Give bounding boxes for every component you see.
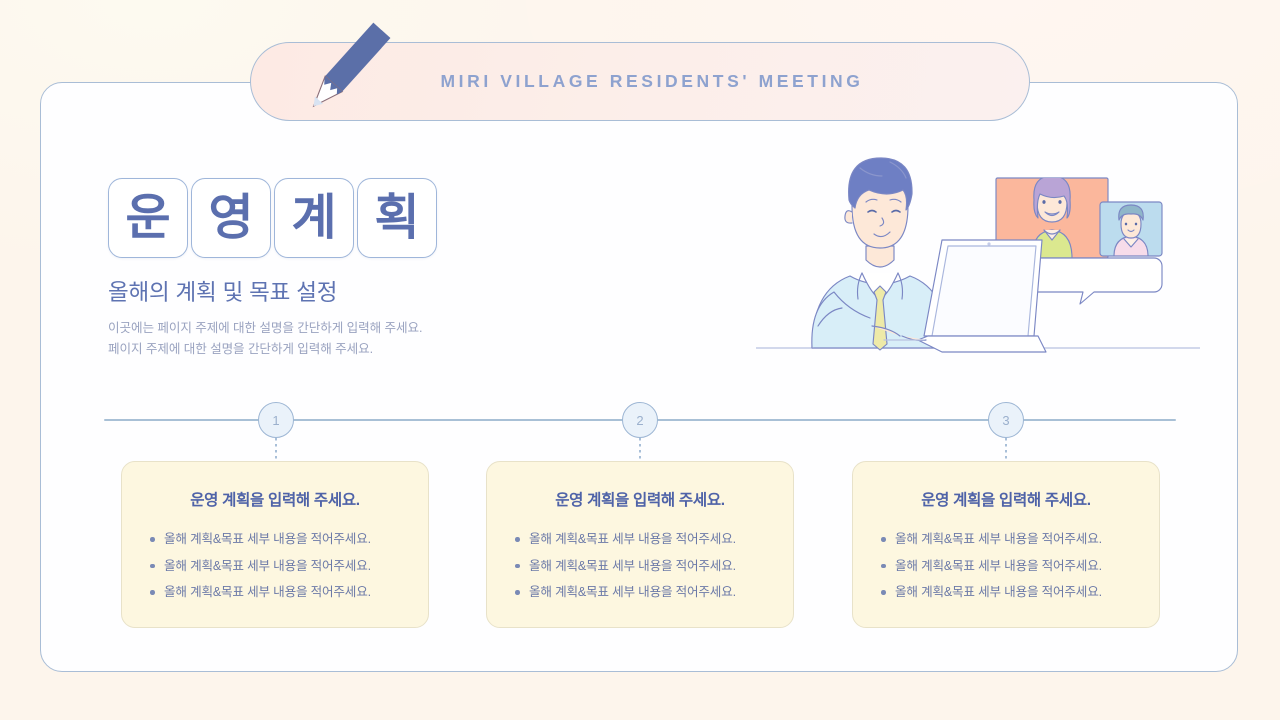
plan-card-3-list: 올해 계획&목표 세부 내용을 적어주세요. 올해 계획&목표 세부 내용을 적… (871, 526, 1141, 606)
plan-card-1-heading: 운영 계획을 입력해 주세요. (140, 488, 410, 510)
slide-canvas: MIRI VILLAGE RESIDENTS' MEETING 운 영 계 획 … (0, 0, 1280, 720)
plan-card-2[interactable]: 운영 계획을 입력해 주세요. 올해 계획&목표 세부 내용을 적어주세요. 올… (486, 461, 794, 628)
header-title: MIRI VILLAGE RESIDENTS' MEETING (416, 71, 863, 92)
plan-card-1-list: 올해 계획&목표 세부 내용을 적어주세요. 올해 계획&목표 세부 내용을 적… (140, 526, 410, 606)
title-char-3: 계 (291, 194, 336, 243)
plan-card-1[interactable]: 운영 계획을 입력해 주세요. 올해 계획&목표 세부 내용을 적어주세요. 올… (121, 461, 429, 628)
list-item: 올해 계획&목표 세부 내용을 적어주세요. (140, 526, 410, 553)
list-item: 올해 계획&목표 세부 내용을 적어주세요. (140, 553, 410, 580)
title-char-box-3: 계 (274, 178, 354, 258)
timeline-node-3-number: 3 (1002, 413, 1009, 428)
timeline-node-2[interactable]: 2 (622, 402, 658, 438)
plan-card-3[interactable]: 운영 계획을 입력해 주세요. 올해 계획&목표 세부 내용을 적어주세요. 올… (852, 461, 1160, 628)
list-item: 올해 계획&목표 세부 내용을 적어주세요. (871, 526, 1141, 553)
title-char-1: 운 (125, 194, 170, 243)
list-item: 올해 계획&목표 세부 내용을 적어주세요. (871, 553, 1141, 580)
description-line-2: 페이지 주제에 대한 설명을 간단하게 입력해 주세요. (108, 339, 422, 360)
list-item: 올해 계획&목표 세부 내용을 적어주세요. (505, 579, 775, 606)
page-description: 이곳에는 페이지 주제에 대한 설명을 간단하게 입력해 주세요. 페이지 주제… (108, 318, 422, 360)
timeline-node-3[interactable]: 3 (988, 402, 1024, 438)
plan-card-2-heading: 운영 계획을 입력해 주세요. (505, 488, 775, 510)
title-char-box-4: 획 (357, 178, 437, 258)
title-char-4: 획 (374, 194, 419, 243)
video-conference-illustration (756, 140, 1200, 384)
timeline-node-1-number: 1 (272, 413, 279, 428)
plan-card-2-list: 올해 계획&목표 세부 내용을 적어주세요. 올해 계획&목표 세부 내용을 적… (505, 526, 775, 606)
timeline-node-2-number: 2 (636, 413, 643, 428)
list-item: 올해 계획&목표 세부 내용을 적어주세요. (505, 526, 775, 553)
list-item: 올해 계획&목표 세부 내용을 적어주세요. (505, 553, 775, 580)
page-subtitle: 올해의 계획 및 목표 설정 (108, 275, 337, 307)
title-char-box-2: 영 (191, 178, 271, 258)
timeline-connector-1 (275, 438, 277, 462)
page-title: 운 영 계 획 (108, 178, 437, 258)
plan-card-3-heading: 운영 계획을 입력해 주세요. (871, 488, 1141, 510)
description-line-1: 이곳에는 페이지 주제에 대한 설명을 간단하게 입력해 주세요. (108, 318, 422, 339)
timeline-connector-2 (639, 438, 641, 462)
timeline-connector-3 (1005, 438, 1007, 462)
title-char-2: 영 (208, 194, 253, 243)
timeline-node-1[interactable]: 1 (258, 402, 294, 438)
list-item: 올해 계획&목표 세부 내용을 적어주세요. (140, 579, 410, 606)
list-item: 올해 계획&목표 세부 내용을 적어주세요. (871, 579, 1141, 606)
header-banner: MIRI VILLAGE RESIDENTS' MEETING (250, 42, 1030, 121)
title-char-box-1: 운 (108, 178, 188, 258)
